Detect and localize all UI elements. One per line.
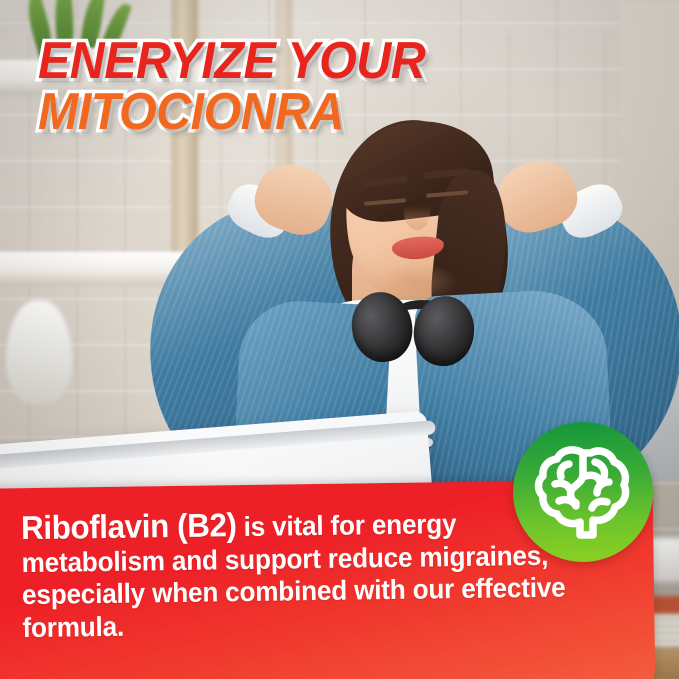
headline-line-2: MITOCIONRA bbox=[38, 89, 425, 137]
banner-lead-text: Riboflavin (B2) bbox=[21, 506, 237, 546]
brain-icon bbox=[531, 440, 635, 544]
nose bbox=[404, 196, 430, 230]
headline-line-1: ENERYIZE YOUR bbox=[38, 38, 425, 86]
banner-paragraph: Riboflavin (B2) is vital for energy meta… bbox=[21, 504, 579, 644]
promo-image: ENERYIZE YOUR MITOCIONRA bbox=[0, 0, 679, 679]
headline: ENERYIZE YOUR MITOCIONRA bbox=[38, 38, 454, 137]
brain-badge bbox=[513, 422, 653, 562]
